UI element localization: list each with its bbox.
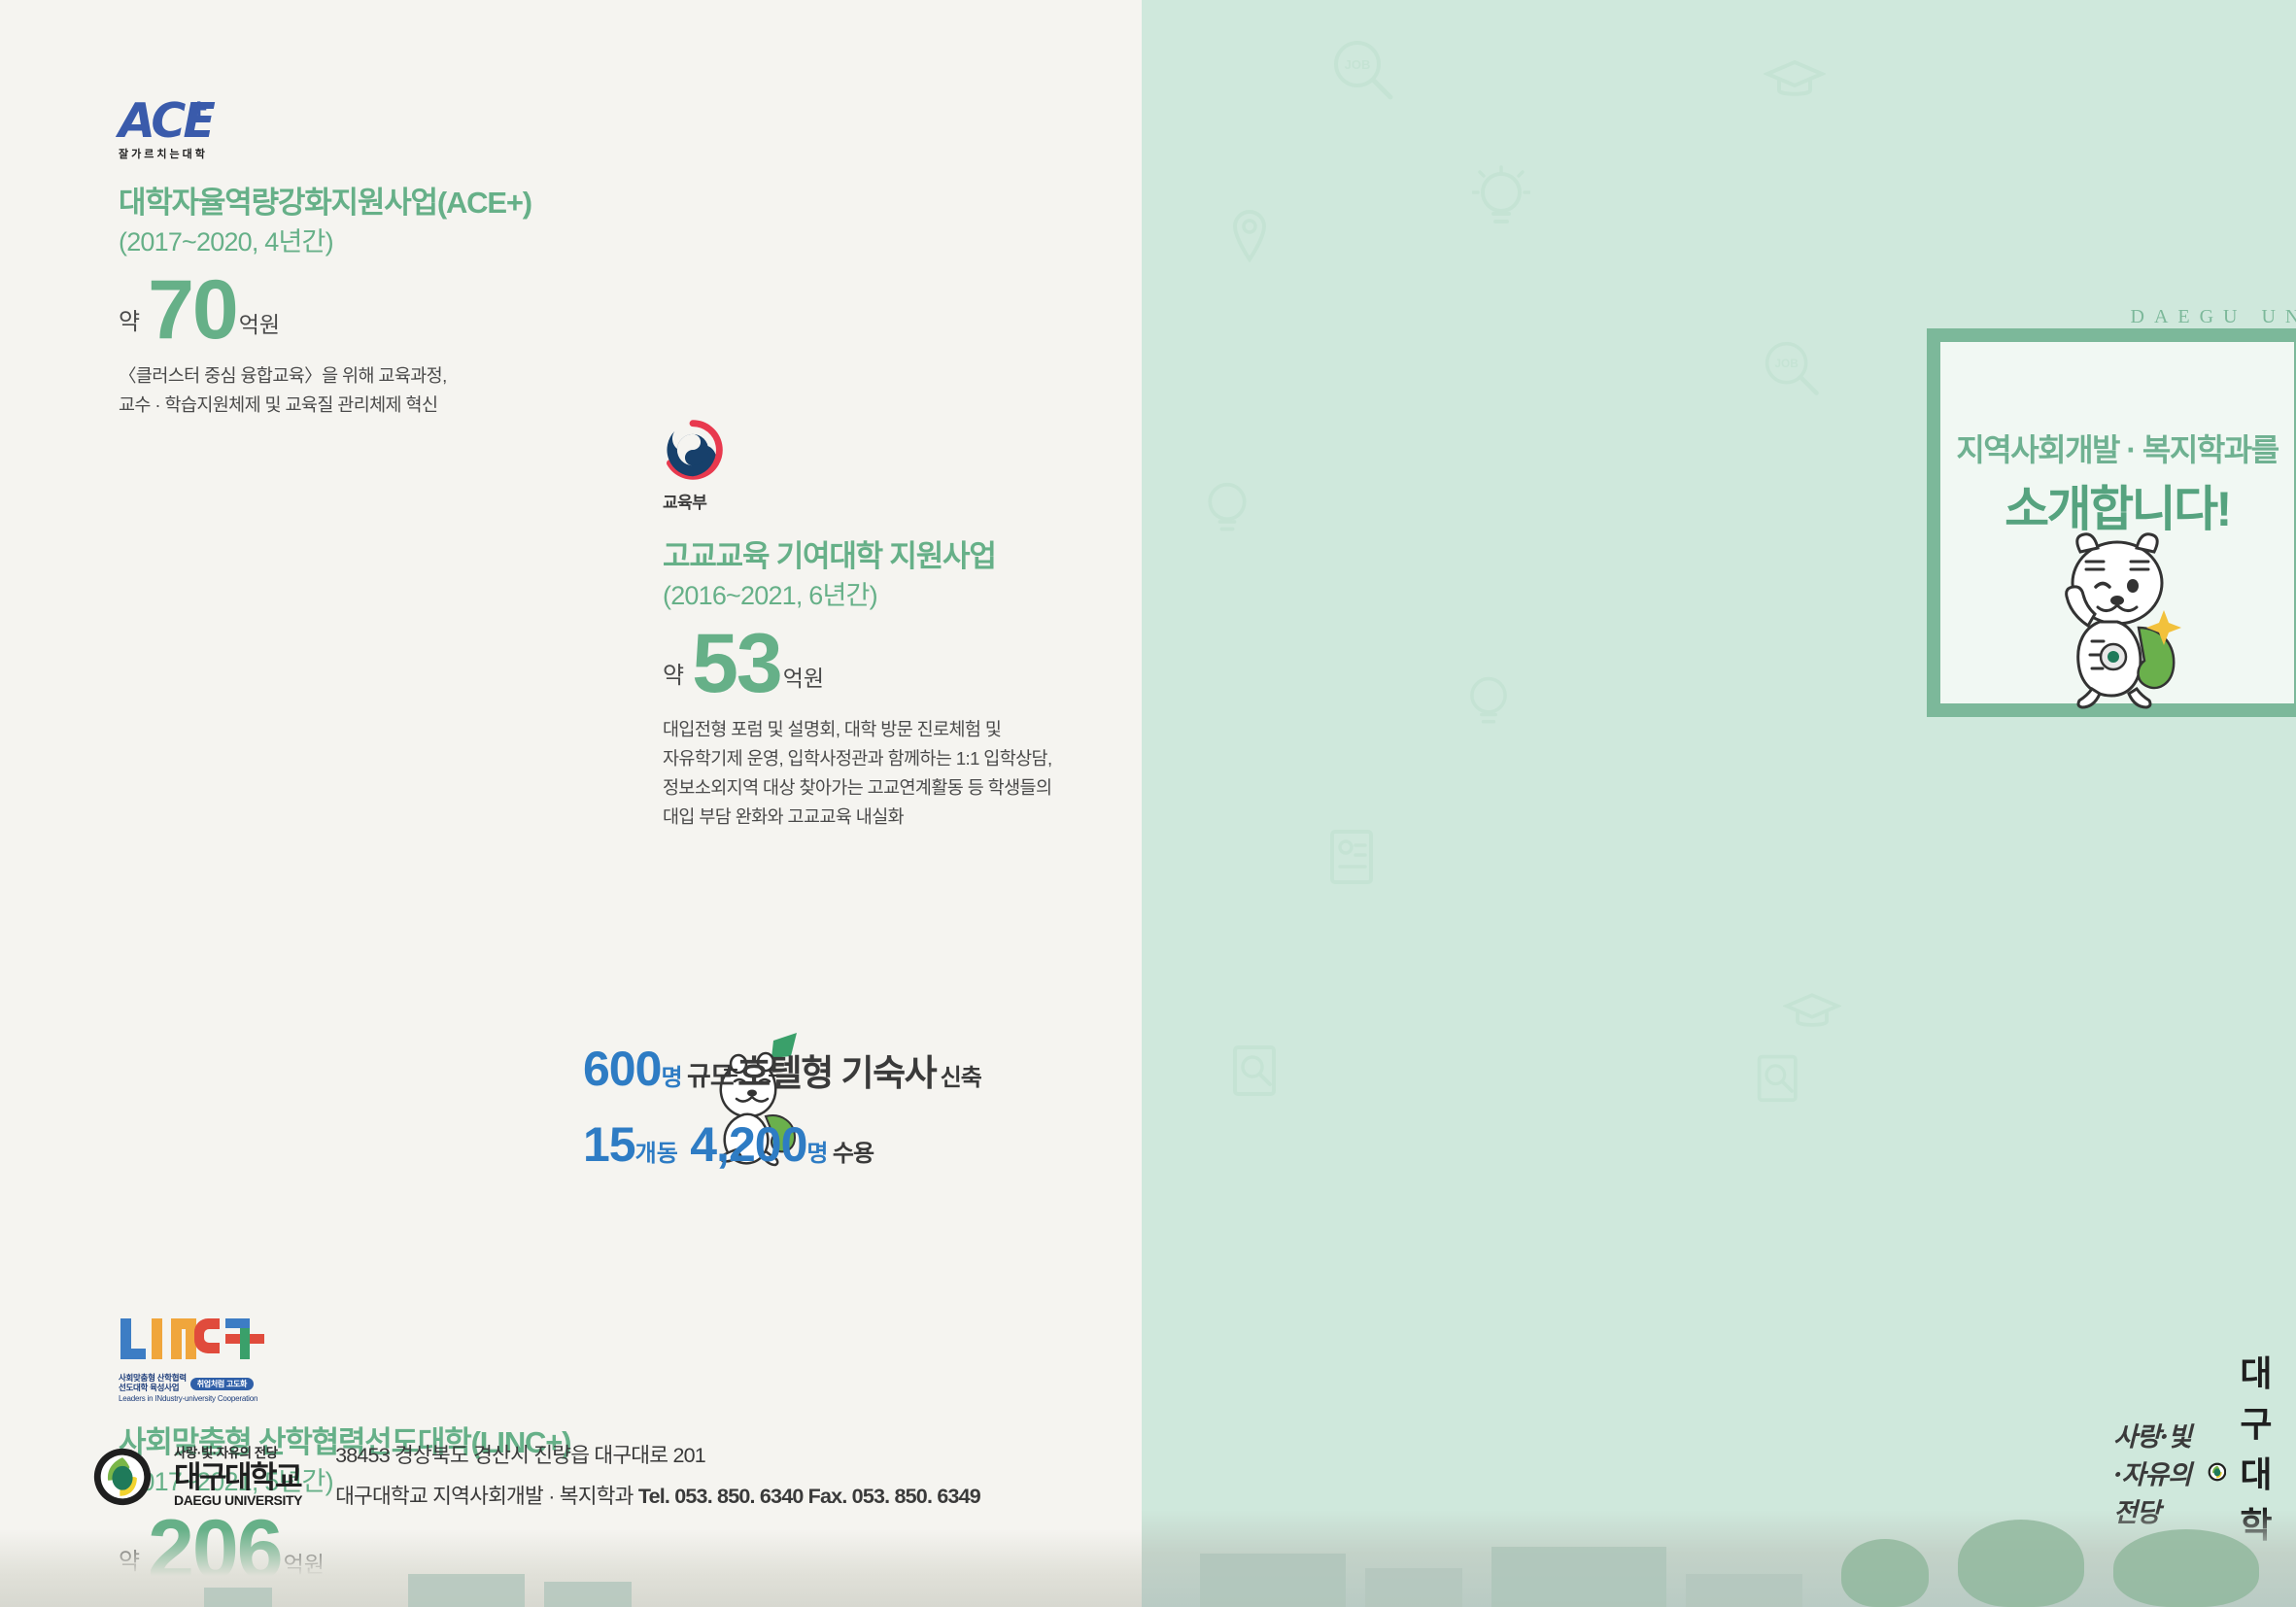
amount-unit-label: 억원 <box>239 314 280 348</box>
dormitory-line-2: 15개동 4,200명 수용 <box>583 1120 1040 1169</box>
amount-value: 70 <box>148 273 237 348</box>
program-title: 고교교육 기여대학 지원사업 <box>663 538 1129 576</box>
program-block-ace: ACE + 잘가르치는대학 대학자율역량강화지원사업(ACE+) (2017~2… <box>119 97 624 420</box>
linc-badge: 취업처럼 고도화 <box>190 1378 254 1390</box>
hero-subtitle: 지역사회개발 · 복지학과를 <box>1940 426 2294 470</box>
program-block-highschool: 교육부 고교교육 기여대학 지원사업 (2016~2021, 6년간) 약 53… <box>663 420 1129 832</box>
lightbulb-watermark-icon <box>1200 476 1254 540</box>
left-photo-band <box>0 1529 1142 1607</box>
program-amount: 약 70 억원 <box>119 273 624 348</box>
description-line: 자유학기제 운영, 입학사정관과 함께하는 1:1 입학상담, <box>663 744 1129 773</box>
dormitory-line-1: 600명 규모 호텔형 기숙사 신축 <box>583 1044 1040 1093</box>
daegu-university-wordmark: DAEGU UNIVERSITY <box>2113 306 2296 328</box>
resume-document-watermark-icon <box>1326 826 1383 888</box>
hero-frame: 지역사회개발 · 복지학과를 소개합니다! <box>1927 328 2296 717</box>
footer-address-line2: 대구대학교 지역사회개발 · 복지학과 Tel. 053. 850. 6340 … <box>335 1477 980 1518</box>
amount-value: 53 <box>692 627 781 701</box>
linc-plus-logo: 사회맞춤형 산학협력 선도대학 육성사업 취업처럼 고도화 Leaders in… <box>119 1313 313 1403</box>
daegu-university-emblem <box>2208 1447 2227 1497</box>
brochure-spread: ACE + 잘가르치는대학 대학자율역량강화지원사업(ACE+) (2017~2… <box>0 0 2296 1607</box>
location-pin-watermark-icon <box>1229 209 1270 263</box>
program-period: (2017~2020, 4년간) <box>119 225 624 259</box>
dormitory-building-count: 15 <box>583 1117 635 1172</box>
description-line: 대입전형 포럼 및 설명회, 대학 방문 진로체험 및 <box>663 715 1129 744</box>
footer-address: 38453 경상북도 경산시 진량읍 대구대로 201 대구대학교 지역사회개발… <box>335 1436 980 1518</box>
graduation-cap-watermark-icon <box>1764 58 1826 103</box>
description-line: 교수 · 학습지원체제 및 교육질 관리체제 혁신 <box>119 391 624 420</box>
footer-address-line1: 38453 경상북도 경산시 진량읍 대구대로 201 <box>335 1436 980 1477</box>
left-page: ACE + 잘가르치는대학 대학자율역량강화지원사업(ACE+) (2017~2… <box>0 0 1142 1607</box>
ace-plus-superscript: + <box>189 93 207 126</box>
footer-university-name-en: DAEGU UNIVERSITY <box>174 1493 302 1507</box>
linc-logo-icon <box>119 1313 266 1367</box>
job-search-watermark-icon: JOB <box>1764 340 1822 398</box>
dormitory-build-label: 신축 <box>941 1065 981 1091</box>
program-description: 대입전형 포럼 및 설명회, 대학 방문 진로체험 및 자유학기제 운영, 입학… <box>663 715 1129 832</box>
ministry-name: 교육부 <box>663 489 779 513</box>
amount-unit-label: 억원 <box>783 667 824 701</box>
hero-title: 소개합니다! <box>1940 470 2294 540</box>
linc-subtitle-line2: 선도대학 육성사업 <box>119 1384 187 1393</box>
daegu-university-emblem <box>92 1447 153 1507</box>
lightbulb-watermark-icon <box>1472 165 1530 233</box>
lightbulb-watermark-icon <box>1462 670 1515 733</box>
taegeuk-icon <box>663 420 723 480</box>
dormitory-unit-buildings: 개동 <box>635 1141 678 1167</box>
program-title: 대학자율역량강화지원사업(ACE+) <box>119 185 624 222</box>
dormitory-total-capacity: 4,200 <box>690 1117 806 1172</box>
dormitory-accommodate-label: 수용 <box>833 1141 874 1167</box>
footer-department: 대구대학교 지역사회개발 · 복지학과 <box>335 1485 638 1508</box>
program-description: 〈클러스터 중심 융합교육〉을 위해 교육과정, 교수 · 학습지원체제 및 교… <box>119 361 624 420</box>
amount-approx-label: 약 <box>663 665 684 701</box>
amount-approx-label: 약 <box>119 311 140 348</box>
program-period: (2016~2021, 6년간) <box>663 579 1129 613</box>
korea-government-taegeuk-logo: 교육부 <box>663 420 779 513</box>
dormitory-type-label: 호텔형 기숙사 <box>737 1053 936 1093</box>
job-search-watermark-icon: JOB <box>1332 39 1396 103</box>
dormitory-scale-label: 규모 <box>687 1062 734 1091</box>
footer-university-name-kr: 대구대학교 <box>174 1462 302 1492</box>
footer-contact: Tel. 053. 850. 6340 Fax. 053. 850. 6349 <box>638 1485 980 1508</box>
footer-slogan: 사랑·빛·자유의 전당 <box>174 1447 302 1460</box>
footer: 사랑·빛·자유의 전당 대구대학교 DAEGU UNIVERSITY 38453… <box>92 1436 980 1518</box>
description-line: 〈클러스터 중심 융합교육〉을 위해 교육과정, <box>119 361 624 391</box>
right-page: JOB JOB DAEGU UNIVERS <box>1142 0 2296 1607</box>
clipboard-search-watermark-icon <box>1229 1040 1285 1100</box>
svg-text:JOB: JOB <box>1345 57 1371 72</box>
tiger-mascot-icon <box>2032 532 2203 717</box>
graduation-cap-watermark-icon <box>1783 991 1841 1034</box>
linc-subtitle-english: Leaders in INdustry-university Cooperati… <box>119 1394 313 1403</box>
dormitory-unit-1: 명 <box>661 1065 682 1091</box>
tiger-mascot <box>2032 532 2203 722</box>
footer-university-wordmark: 사랑·빛·자유의 전당 대구대학교 DAEGU UNIVERSITY <box>174 1447 302 1507</box>
right-photo-band <box>1142 1510 2296 1607</box>
ace-plus-logo: ACE + 잘가르치는대학 <box>119 97 264 163</box>
description-line: 정보소외지역 대상 찾아가는 고교연계활동 등 학생들의 <box>663 773 1129 803</box>
description-line: 대입 부담 완화와 고교교육 내실화 <box>663 803 1129 832</box>
dormitory-capacity-per-unit: 600 <box>583 1042 661 1096</box>
svg-text:JOB: JOB <box>1775 357 1799 370</box>
clipboard-search-watermark-icon <box>1754 1049 1806 1106</box>
dormitory-stats: 600명 규모 호텔형 기숙사 신축 15개동 4,200명 수용 <box>583 1044 1040 1169</box>
dormitory-unit-people: 명 <box>806 1141 828 1167</box>
program-amount: 약 53 억원 <box>663 627 1129 701</box>
